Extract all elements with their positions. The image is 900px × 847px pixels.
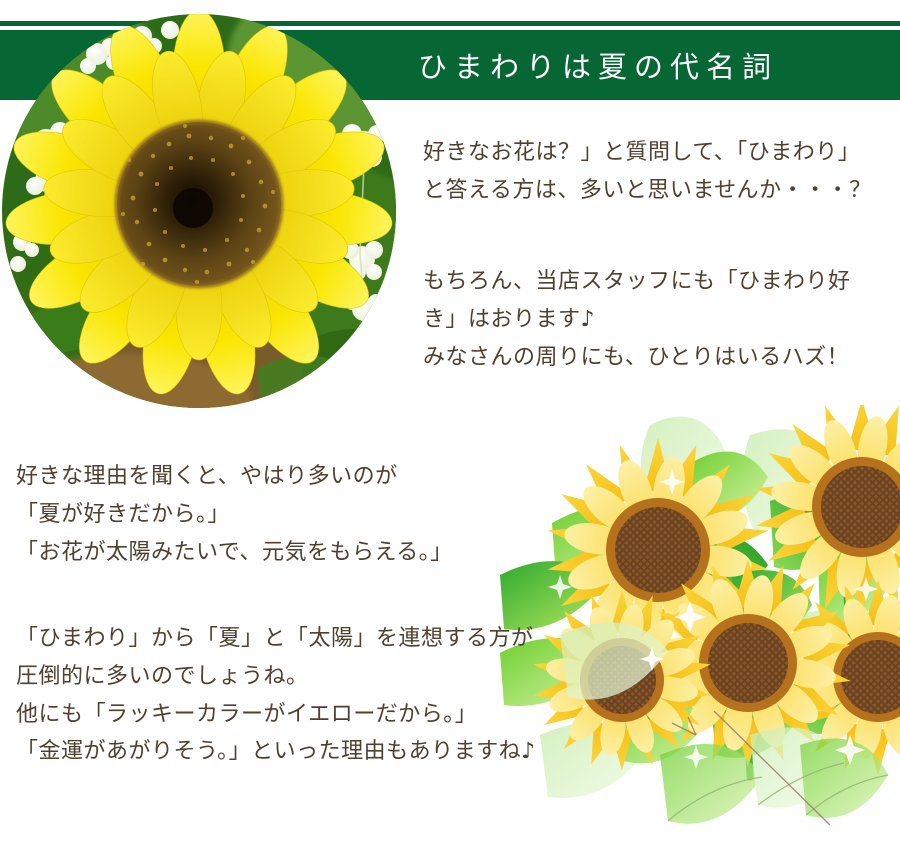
paragraph-intro: 好きなお花は？」と質問して、「ひまわり」 と答える方は、多いと思いませんか・・・… xyxy=(423,134,893,210)
page-root: ひまわりは夏の代名詞 xyxy=(0,0,900,847)
paragraph-reasons: 好きな理由を聞くと、やはり多いのが 「夏が好きだから。」 「お花が太陽みたいで、… xyxy=(16,458,536,571)
paragraph-staff: もちろん、当店スタッフにも「ひまわり好 き」はおります♪ みなさんの周りにも、ひ… xyxy=(423,263,893,376)
page-title: ひまわりは夏の代名詞 xyxy=(0,30,900,100)
paragraph-association: 「ひまわり」から「夏」と「太陽」を連想する方が 圧倒的に多いのでしょうね。 他に… xyxy=(16,620,596,771)
